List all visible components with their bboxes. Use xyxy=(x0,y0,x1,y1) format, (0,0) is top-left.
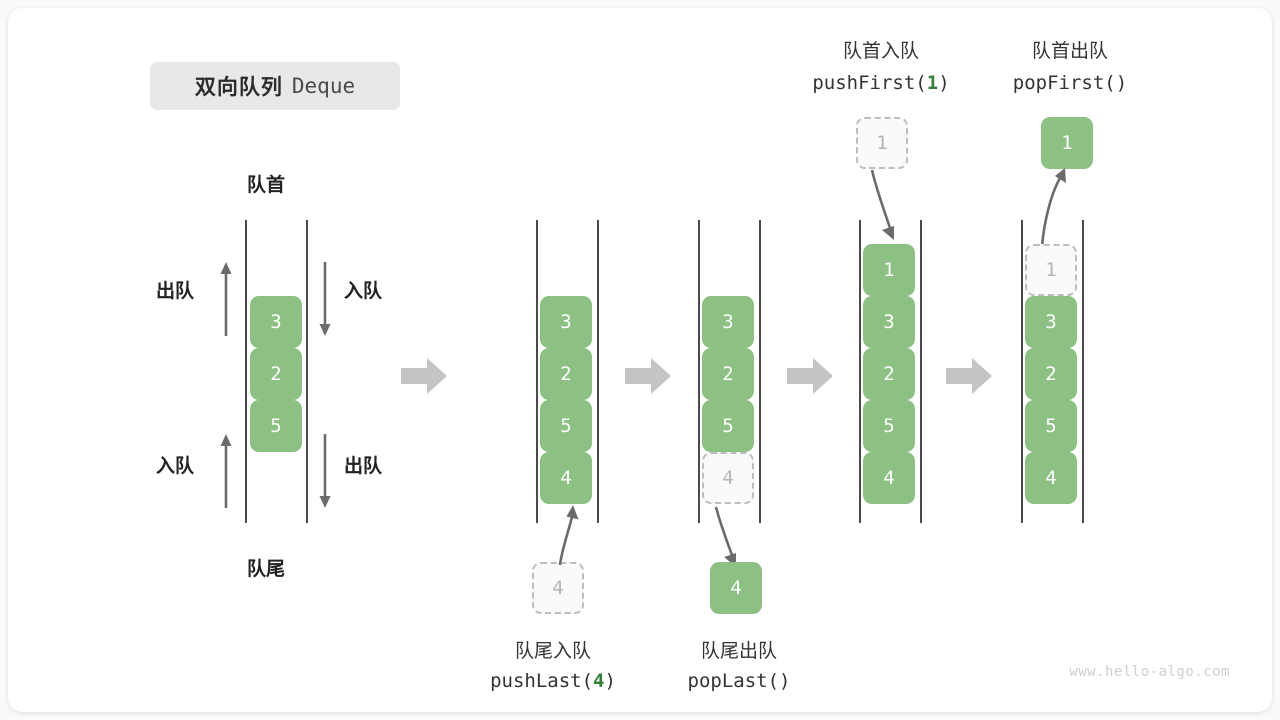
ghost-node-push-last: 4 xyxy=(532,562,584,614)
push-last-code-post: ) xyxy=(604,670,615,692)
dequeue-label-top: 出队 xyxy=(156,276,194,303)
caption-pop-last-cn: 队尾出队 xyxy=(659,636,819,663)
node-stage5-4: 4 xyxy=(1025,452,1077,504)
rail-right-stage4 xyxy=(920,220,922,523)
ghost-node-stage3: 4 xyxy=(702,452,754,504)
step-arrow-4 xyxy=(946,356,992,396)
step-arrow-1 xyxy=(401,356,447,396)
caption-pop-last-code: popLast() xyxy=(659,670,819,692)
dequeue-label-bottom: 出队 xyxy=(344,451,382,478)
node-stage3-2: 5 xyxy=(702,400,754,452)
front-label: 队首 xyxy=(247,170,285,197)
push-first-code-pre: pushFirst( xyxy=(812,72,926,94)
rail-left-stage1 xyxy=(245,220,247,523)
arrow-up-enqueue-bottom xyxy=(219,432,233,510)
rear-label: 队尾 xyxy=(247,554,285,581)
node-stage5-3: 5 xyxy=(1025,400,1077,452)
pop-last-code-post: ) xyxy=(779,670,790,692)
arrow-down-dequeue-bottom xyxy=(318,432,332,510)
node-stage3-1: 2 xyxy=(702,348,754,400)
rail-left-stage5 xyxy=(1021,220,1023,523)
node-stage2-0: 3 xyxy=(540,296,592,348)
node-stage1-0: 3 xyxy=(250,296,302,348)
node-stage4-1: 3 xyxy=(863,296,915,348)
enqueue-label-bottom: 入队 xyxy=(156,451,194,478)
watermark: www.hello-algo.com xyxy=(1069,664,1230,680)
caption-push-first-code: pushFirst(1) xyxy=(791,72,971,94)
rail-right-stage5 xyxy=(1082,220,1084,523)
node-stage1-1: 2 xyxy=(250,348,302,400)
ghost-node-push-first: 1 xyxy=(856,117,908,169)
rail-left-stage3 xyxy=(698,220,700,523)
output-node-pop-first: 1 xyxy=(1041,117,1093,169)
push-last-code-pre: pushLast( xyxy=(490,670,593,692)
node-stage2-3: 4 xyxy=(540,452,592,504)
ghost-node-stage5: 1 xyxy=(1025,244,1077,296)
title-english: Deque xyxy=(292,74,355,98)
node-stage5-2: 2 xyxy=(1025,348,1077,400)
node-stage2-1: 2 xyxy=(540,348,592,400)
caption-push-last-code: pushLast(4) xyxy=(463,670,643,692)
node-stage5-1: 3 xyxy=(1025,296,1077,348)
caption-pop-first-code: popFirst() xyxy=(980,72,1160,94)
push-last-code-arg: 4 xyxy=(593,670,604,692)
rail-left-stage4 xyxy=(859,220,861,523)
pop-first-code-pre: popFirst( xyxy=(1013,72,1116,94)
caption-pop-first-cn: 队首出队 xyxy=(990,36,1150,63)
arrow-down-enqueue-top xyxy=(318,260,332,338)
push-first-code-arg: 1 xyxy=(927,72,938,94)
diagram-canvas: 双向队列 Deque 队首 队尾 出队 入队 入队 出队 3 2 5 3 2 5… xyxy=(8,8,1272,712)
node-stage4-3: 5 xyxy=(863,400,915,452)
caption-push-last-cn: 队尾入队 xyxy=(473,636,633,663)
rail-right-stage1 xyxy=(306,220,308,523)
rail-left-stage2 xyxy=(536,220,538,523)
arrow-pop-first xyxy=(1018,168,1098,248)
arrow-up-dequeue-top xyxy=(219,260,233,338)
node-stage3-0: 3 xyxy=(702,296,754,348)
node-stage1-2: 5 xyxy=(250,400,302,452)
push-first-code-post: ) xyxy=(938,72,949,94)
pop-last-code-pre: popLast( xyxy=(688,670,780,692)
output-node-pop-last: 4 xyxy=(710,562,762,614)
rail-right-stage3 xyxy=(759,220,761,523)
caption-push-first-cn: 队首入队 xyxy=(801,36,961,63)
node-stage4-4: 4 xyxy=(863,452,915,504)
title-chinese: 双向队列 xyxy=(195,71,283,101)
step-arrow-2 xyxy=(625,356,671,396)
node-stage2-2: 5 xyxy=(540,400,592,452)
step-arrow-3 xyxy=(787,356,833,396)
diagram-title-chip: 双向队列 Deque xyxy=(150,62,400,110)
enqueue-label-top: 入队 xyxy=(344,276,382,303)
rail-right-stage2 xyxy=(597,220,599,523)
node-stage4-2: 2 xyxy=(863,348,915,400)
pop-first-code-post: ) xyxy=(1116,72,1127,94)
node-stage4-0: 1 xyxy=(863,244,915,296)
